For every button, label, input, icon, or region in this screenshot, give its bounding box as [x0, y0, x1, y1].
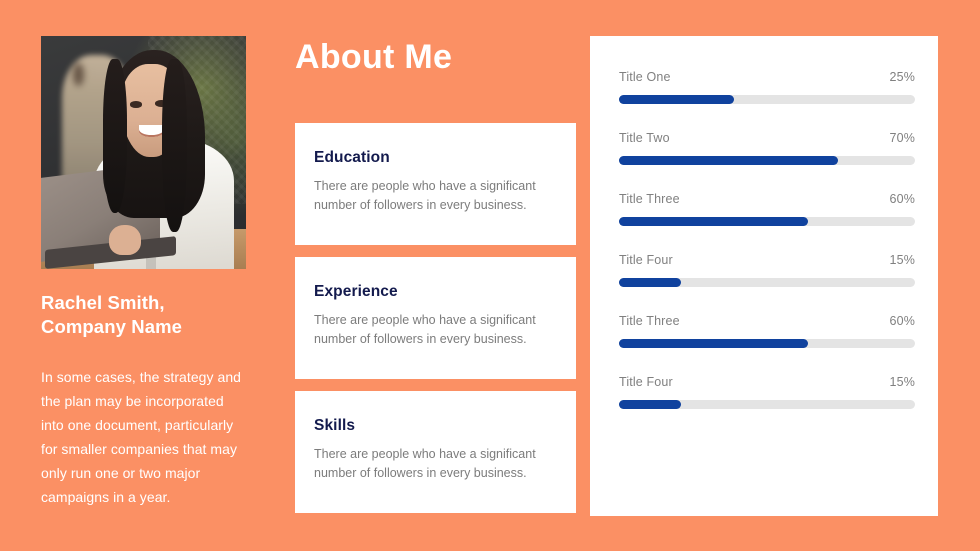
progress-row: Title Four 15%	[619, 253, 915, 287]
info-card-list: Education There are people who have a si…	[295, 123, 576, 525]
info-card-title: Experience	[314, 283, 556, 301]
info-card-experience[interactable]: Experience There are people who have a s…	[295, 257, 576, 379]
info-card-skills[interactable]: Skills There are people who have a signi…	[295, 391, 576, 513]
progress-track[interactable]	[619, 400, 915, 409]
photo-background-person-head	[73, 63, 84, 86]
photo-subject-hair-lock-right	[162, 59, 187, 231]
progress-label: Title Four	[619, 375, 673, 389]
progress-value: 15%	[890, 375, 915, 389]
progress-row: Title Four 15%	[619, 375, 915, 409]
photo-subject-hair-lock-left	[103, 59, 128, 213]
page-title: About Me	[295, 38, 452, 77]
info-card-title: Skills	[314, 417, 556, 435]
progress-fill	[619, 278, 681, 287]
info-card-text: There are people who have a significant …	[314, 311, 556, 349]
progress-value: 25%	[890, 70, 915, 84]
info-card-education[interactable]: Education There are people who have a si…	[295, 123, 576, 245]
progress-row: Title Three 60%	[619, 314, 915, 348]
progress-value: 60%	[890, 314, 915, 328]
progress-track[interactable]	[619, 156, 915, 165]
profile-name: Rachel Smith, Company Name	[41, 291, 246, 339]
progress-row-header: Title One 25%	[619, 70, 915, 84]
slide-canvas: Rachel Smith, Company Name In some cases…	[0, 0, 980, 551]
progress-row-header: Title Three 60%	[619, 314, 915, 328]
progress-fill	[619, 400, 681, 409]
progress-value: 15%	[890, 253, 915, 267]
progress-row: Title One 25%	[619, 70, 915, 104]
progress-fill	[619, 339, 808, 348]
progress-row-header: Title Four 15%	[619, 375, 915, 389]
skills-progress-panel: Title One 25% Title Two 70% Title Three …	[590, 36, 938, 516]
progress-label: Title Two	[619, 131, 670, 145]
info-card-text: There are people who have a significant …	[314, 177, 556, 215]
info-card-title: Education	[314, 149, 556, 167]
progress-label: Title Four	[619, 253, 673, 267]
progress-fill	[619, 217, 808, 226]
photo-subject-smile	[139, 125, 164, 136]
progress-row: Title Three 60%	[619, 192, 915, 226]
progress-label: Title Three	[619, 192, 680, 206]
info-card-text: There are people who have a significant …	[314, 445, 556, 483]
progress-row-header: Title Three 60%	[619, 192, 915, 206]
profile-photo-image	[41, 36, 246, 269]
profile-photo	[41, 36, 246, 269]
progress-track[interactable]	[619, 339, 915, 348]
progress-fill	[619, 95, 734, 104]
progress-label: Title Three	[619, 314, 680, 328]
progress-track[interactable]	[619, 95, 915, 104]
progress-row-header: Title Four 15%	[619, 253, 915, 267]
progress-track[interactable]	[619, 278, 915, 287]
progress-label: Title One	[619, 70, 671, 84]
profile-bio: In some cases, the strategy and the plan…	[41, 365, 241, 509]
progress-fill	[619, 156, 838, 165]
progress-row-header: Title Two 70%	[619, 131, 915, 145]
progress-track[interactable]	[619, 217, 915, 226]
progress-value: 60%	[890, 192, 915, 206]
progress-row: Title Two 70%	[619, 131, 915, 165]
photo-subject-hand	[109, 225, 142, 255]
progress-value: 70%	[890, 131, 915, 145]
profile-column: Rachel Smith, Company Name In some cases…	[41, 36, 246, 509]
